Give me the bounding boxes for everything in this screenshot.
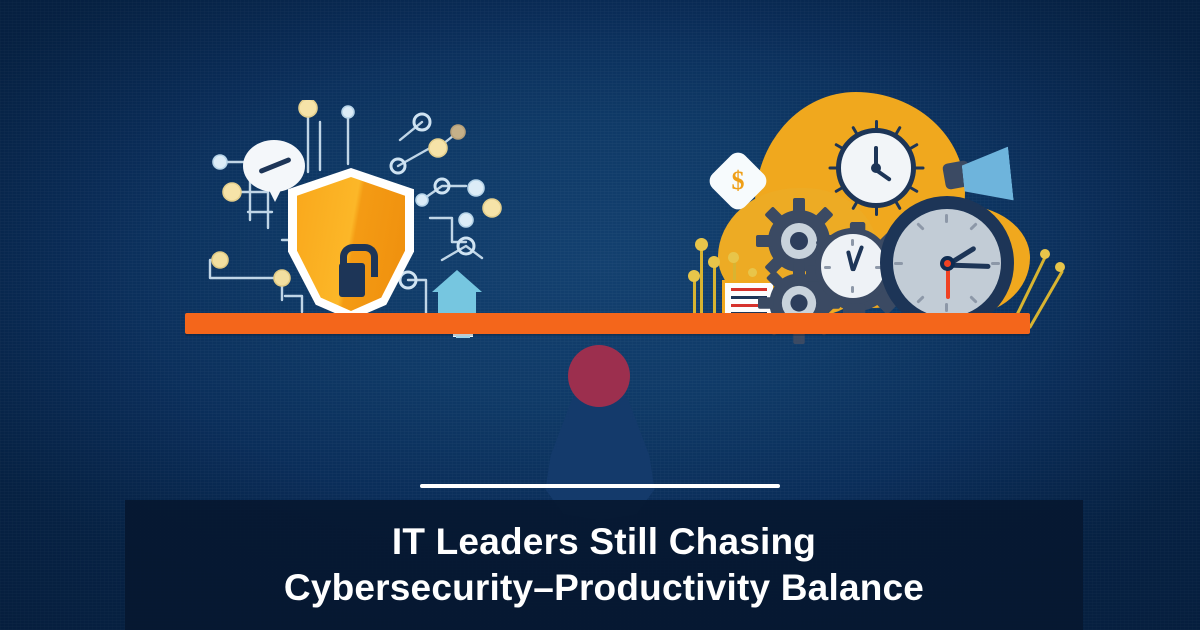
pin-marker-head <box>1040 249 1050 259</box>
pin-marker-head <box>695 238 708 251</box>
house-roof <box>432 270 482 292</box>
title-line-2: Cybersecurity–Productivity Balance <box>284 565 924 611</box>
title-divider <box>420 484 780 488</box>
dollar-symbol: $ <box>715 158 761 204</box>
padlock-body-icon <box>339 263 365 297</box>
seesaw-beam <box>185 313 1030 334</box>
pin-marker-head <box>688 270 700 282</box>
wall-clock-icon <box>828 120 924 216</box>
pin-marker-stem <box>700 244 703 322</box>
pin-marker-head <box>1055 262 1065 272</box>
wall-clock-center-pin <box>871 163 881 173</box>
hero-illustration: $ <box>0 0 1200 630</box>
speech-bubble-tail-icon <box>266 184 284 202</box>
title-line-1: IT Leaders Still Chasing <box>392 519 816 565</box>
fulcrum-ball <box>568 345 630 407</box>
shield-lock-icon <box>288 168 414 320</box>
fulcrum <box>535 345 665 520</box>
page-title: IT Leaders Still Chasing Cybersecurity–P… <box>125 500 1083 630</box>
pin-marker-head <box>728 252 739 263</box>
stopwatch-center-pin <box>940 256 955 271</box>
pin-marker-head <box>708 256 720 268</box>
stopwatch-icon <box>880 196 1014 330</box>
